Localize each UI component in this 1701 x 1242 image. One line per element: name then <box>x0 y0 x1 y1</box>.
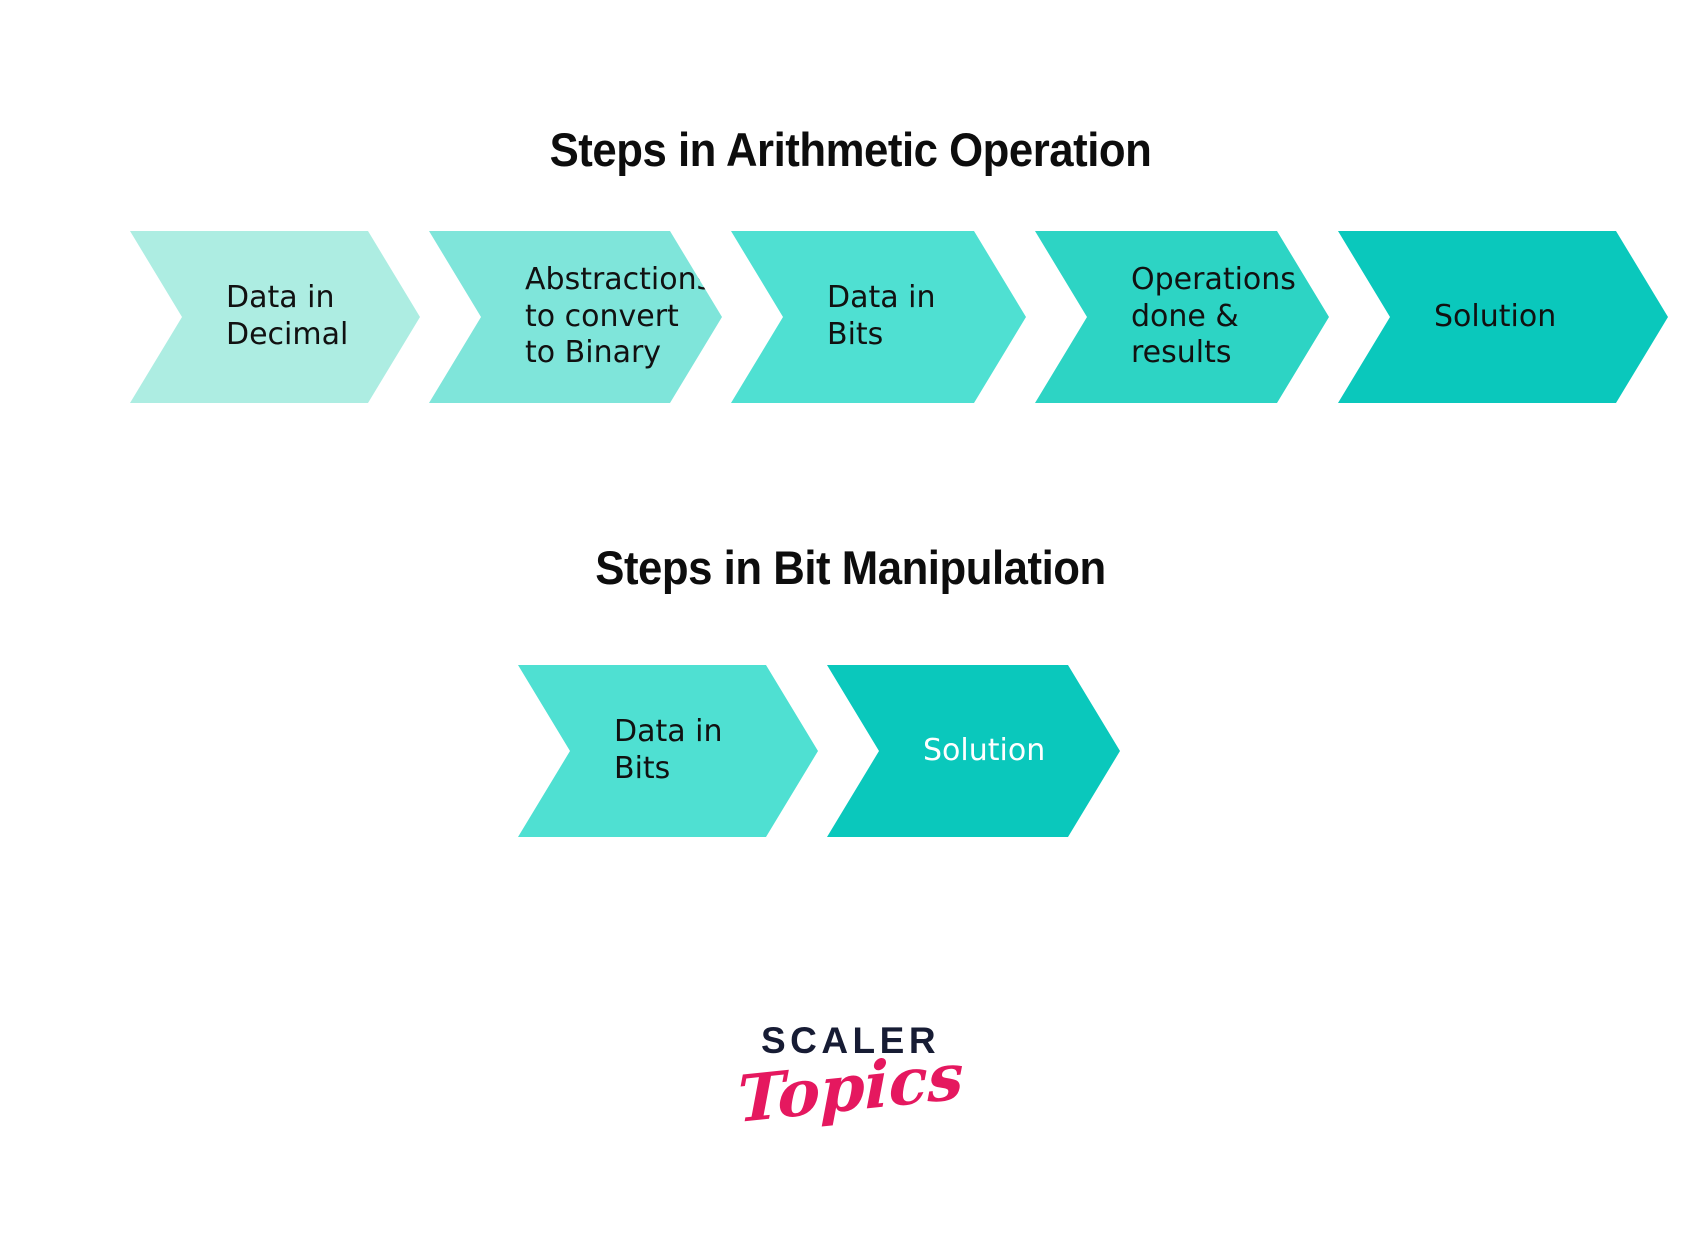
logo-topics-wordmark: Topics <box>5 968 1697 1210</box>
chevron-step-4-label: Operations done & results <box>1035 262 1310 372</box>
chevron-bit-step-1-label: Data in Bits <box>518 714 737 787</box>
chevron-step-5-label: Solution <box>1338 299 1570 336</box>
scaler-topics-logo: SCALER Topics <box>0 1022 1701 1121</box>
chevron-step-2-label: Abstractions to convert to Binary <box>429 262 726 372</box>
chevron-bit-step-1[interactable]: Data in Bits <box>518 665 818 837</box>
chevron-step-5[interactable]: Solution <box>1338 231 1668 403</box>
chevron-row-bit-manipulation: Data in Bits Solution <box>518 665 1120 837</box>
chevron-step-4[interactable]: Operations done & results <box>1035 231 1329 403</box>
chevron-gap <box>1026 231 1035 232</box>
diagram-canvas: Steps in Arithmetic Operation Data in De… <box>0 0 1701 1242</box>
chevron-step-3-label: Data in Bits <box>731 280 950 353</box>
chevron-step-3[interactable]: Data in Bits <box>731 231 1026 403</box>
section-title-arithmetic: Steps in Arithmetic Operation <box>60 122 1642 177</box>
chevron-gap <box>1329 231 1338 232</box>
chevron-gap <box>818 665 827 666</box>
chevron-step-1-label: Data in Decimal <box>130 280 362 353</box>
chevron-gap <box>420 231 429 232</box>
chevron-gap <box>722 231 731 232</box>
chevron-bit-step-2-label: Solution <box>827 733 1059 770</box>
chevron-row-arithmetic: Data in Decimal Abstractions to convert … <box>130 231 1668 403</box>
chevron-bit-step-2[interactable]: Solution <box>827 665 1120 837</box>
chevron-step-1[interactable]: Data in Decimal <box>130 231 420 403</box>
chevron-step-2[interactable]: Abstractions to convert to Binary <box>429 231 722 403</box>
section-title-bit-manipulation: Steps in Bit Manipulation <box>60 540 1642 595</box>
